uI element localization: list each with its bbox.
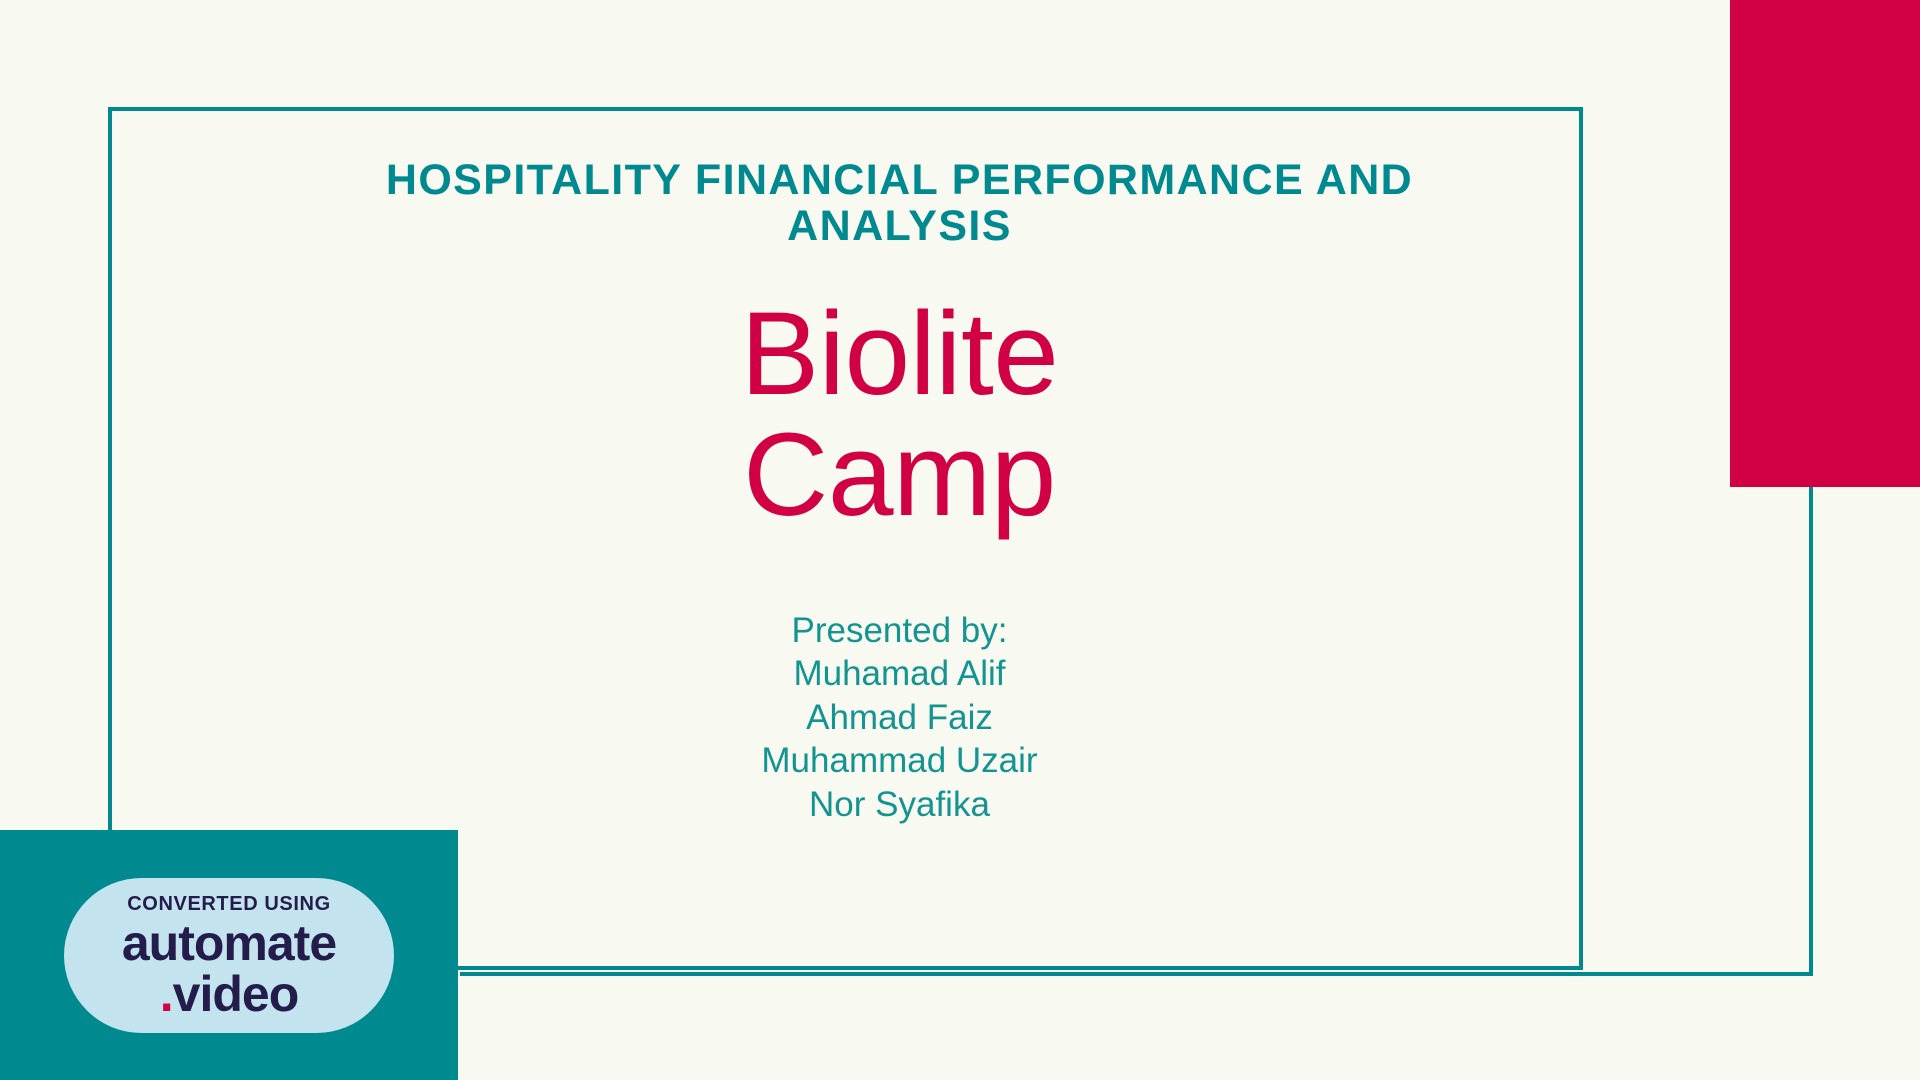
watermark-dot: . bbox=[160, 966, 173, 1022]
slide-title-line-1: Biolite bbox=[741, 294, 1059, 416]
watermark-kicker-text: CONVERTED USING bbox=[127, 893, 330, 916]
presenter-name-1: Muhamad Alif bbox=[761, 652, 1037, 695]
slide-title: Biolite Camp bbox=[741, 294, 1059, 537]
presenter-name-4: Nor Syafika bbox=[761, 783, 1037, 826]
watermark-brand-name: automate bbox=[122, 918, 336, 968]
slide-title-line-2: Camp bbox=[741, 415, 1059, 537]
slide-eyebrow-heading: HOSPITALITY FINANCIAL PERFORMANCE AND AN… bbox=[370, 157, 1430, 250]
presenter-name-2: Ahmad Faiz bbox=[761, 696, 1037, 739]
decorative-crimson-block bbox=[1730, 0, 1920, 487]
presenters-block: Presented by: Muhamad Alif Ahmad Faiz Mu… bbox=[761, 609, 1037, 826]
watermark-tld-text: video bbox=[173, 966, 299, 1022]
presentation-slide: HOSPITALITY FINANCIAL PERFORMANCE AND AN… bbox=[0, 0, 1920, 1080]
presenter-name-3: Muhammad Uzair bbox=[761, 739, 1037, 782]
automate-video-watermark: CONVERTED USING automate .video bbox=[0, 830, 458, 1080]
watermark-pill: CONVERTED USING automate .video bbox=[64, 878, 394, 1033]
watermark-brand-tld: .video bbox=[160, 969, 299, 1019]
presented-by-label: Presented by: bbox=[761, 609, 1037, 652]
